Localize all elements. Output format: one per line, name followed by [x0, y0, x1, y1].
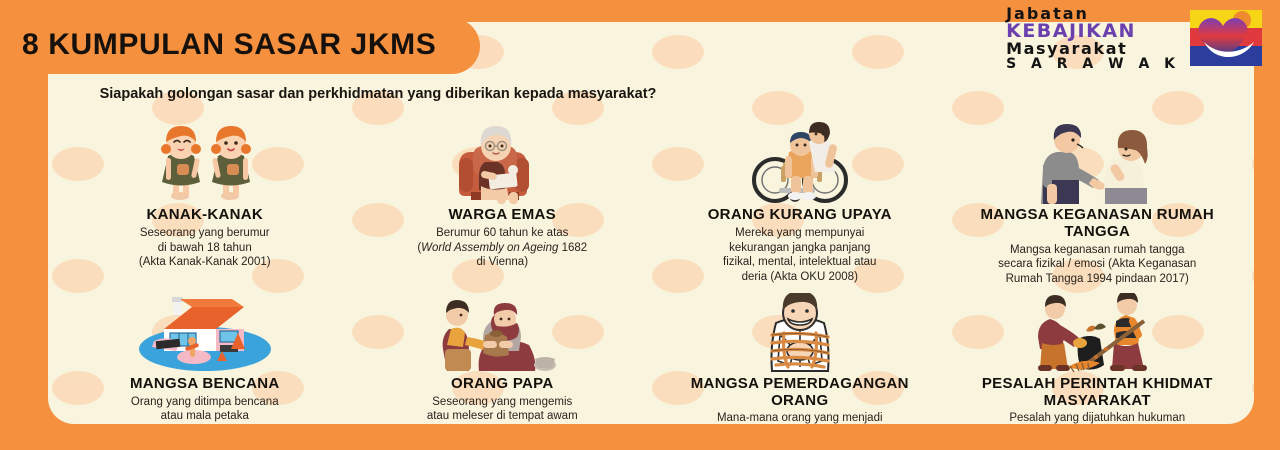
card-orang-kurang-upaya: ORANG KURANG UPAYA Mereka yang mempunyai…: [651, 118, 949, 287]
page-title-text: 8 KUMPULAN SASAR JKMS: [22, 28, 436, 62]
desc-line: Orang yang ditimpa bencana: [131, 396, 279, 408]
card-title: MANGSA KEGANASAN RUMAH TANGGA: [959, 207, 1237, 241]
community-service-icon: [959, 287, 1237, 373]
desc-line: (Akta Kanak-Kanak 2001): [139, 256, 271, 268]
card-orang-papa: ORANG PAPA Seseorang yang mengemis atau …: [354, 287, 652, 424]
card-title: KANAK-KANAK: [146, 207, 263, 224]
bound-person-icon: [661, 287, 939, 373]
target-groups-grid: KANAK-KANAK Seseorang yang berumur di ba…: [56, 118, 1246, 418]
card-description: Mereka yang mempunyai kekurangan jangka …: [723, 226, 876, 285]
card-description: Pesalah yang dijatuhkan hukuman berumur …: [1009, 411, 1185, 424]
desc-line: di bawah 18 tahun: [158, 242, 252, 254]
desc-line: Mana-mana orang yang menjadi: [717, 412, 883, 424]
card-title: WARGA EMAS: [449, 207, 556, 224]
page-title: 8 KUMPULAN SASAR JKMS: [0, 18, 480, 74]
desc-line: Seseorang yang mengemis: [432, 396, 572, 408]
card-description: Seseorang yang mengemis atau meleser di …: [423, 395, 581, 424]
desc-line: di Vienna): [476, 256, 528, 268]
desc-line: Berumur 60 tahun ke atas: [436, 227, 568, 239]
domestic-violence-icon: [959, 118, 1237, 204]
card-description: Berumur 60 tahun ke atas (World Assembly…: [417, 226, 587, 270]
card-warga-emas: WARGA EMAS Berumur 60 tahun ke atas (Wor…: [354, 118, 652, 287]
card-mangsa-bencana: MANGSA BENCANA Orang yang ditimpa bencan…: [56, 287, 354, 424]
heart-logo-icon: [1184, 8, 1262, 70]
card-description: Orang yang ditimpa bencana atau mala pet…: [131, 395, 279, 424]
two-children-icon: [66, 118, 344, 204]
desc-line: Seseorang yang berumur: [140, 227, 270, 239]
page-subtitle: Siapakah golongan sasar dan perkhidmatan…: [88, 84, 668, 105]
card-mangsa-keganasan-rumah-tangga: MANGSA KEGANASAN RUMAH TANGGA Mangsa keg…: [949, 118, 1247, 287]
logo-wordmark: Jabatan KEBAJIKAN Masyarakat S A R A W A…: [1006, 6, 1180, 71]
desc-line: Mereka yang mempunyai: [735, 227, 864, 239]
homeless-aid-icon: [364, 287, 642, 373]
card-title: MANGSA BENCANA: [130, 376, 279, 393]
desc-line: fizikal, mental, intelektual atau: [723, 256, 876, 268]
card-title: MANGSA PEMERDAGANGAN ORANG: [661, 376, 939, 410]
card-mangsa-pemerdagangan-orang: MANGSA PEMERDAGANGAN ORANG Mana-mana ora…: [651, 287, 949, 424]
logo-line-masyarakat: Masyarakat: [1006, 41, 1180, 57]
card-description: Seseorang yang berumur di bawah 18 tahun…: [139, 226, 271, 270]
wheelchair-user-icon: [661, 118, 939, 204]
desc-line: secara fizikal / emosi (Akta Keganasan: [998, 258, 1196, 270]
flooded-house-icon: [66, 287, 344, 373]
desc-line: Rumah Tangga 1994 pindaan 2017): [1006, 273, 1189, 285]
desc-line-italic: (World Assembly on Ageing 1682: [417, 242, 587, 254]
card-description: Mangsa keganasan rumah tangga secara fiz…: [998, 243, 1196, 287]
logo-line-sarawak: S A R A W A K: [1006, 57, 1180, 71]
desc-line: Mangsa keganasan rumah tangga: [1010, 244, 1185, 256]
card-kanak-kanak: KANAK-KANAK Seseorang yang berumur di ba…: [56, 118, 354, 287]
desc-line: atau mala petaka: [161, 410, 249, 422]
content-panel: Siapakah golongan sasar dan perkhidmatan…: [48, 22, 1254, 424]
desc-line: Pesalah yang dijatuhkan hukuman: [1009, 412, 1185, 424]
card-title: PESALAH PERINTAH KHIDMAT MASYARAKAT: [959, 376, 1237, 410]
jkms-logo: Jabatan KEBAJIKAN Masyarakat S A R A W A…: [1006, 6, 1262, 71]
infographic-poster: Siapakah golongan sasar dan perkhidmatan…: [0, 0, 1280, 450]
card-title: ORANG KURANG UPAYA: [708, 207, 892, 224]
desc-line: kekurangan jangka panjang: [729, 242, 870, 254]
card-pesalah-perintah-khidmat-masyarakat: PESALAH PERINTAH KHIDMAT MASYARAKAT Pesa…: [949, 287, 1247, 424]
elderly-woman-armchair-icon: [364, 118, 642, 204]
card-description: Mana-mana orang yang menjadi mangsa atau…: [697, 411, 902, 424]
desc-line: atau meleser di tempat awam: [427, 410, 578, 422]
card-title: ORANG PAPA: [451, 376, 553, 393]
desc-line: deria (Akta OKU 2008): [742, 271, 858, 283]
